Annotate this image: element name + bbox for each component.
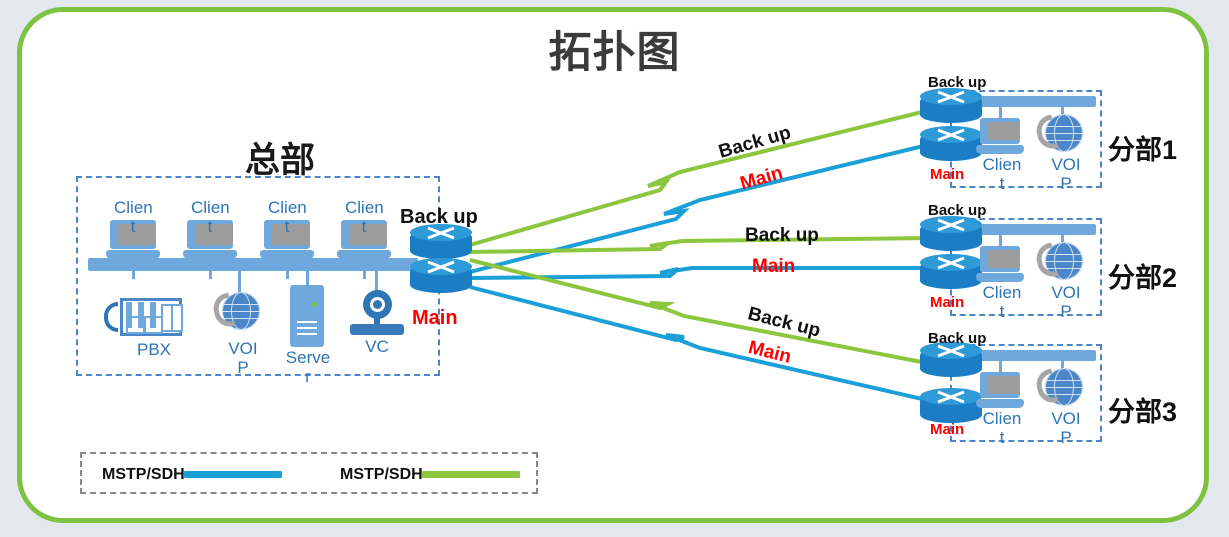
branch-2-client-label2: t: [980, 302, 1024, 321]
router-arrows-icon: [936, 128, 966, 142]
hq-voip-label: VOI: [222, 339, 264, 358]
branch-2-client-label: Clien: [980, 283, 1024, 302]
branch-1-voip-label: VOI: [1045, 155, 1087, 174]
laptop-icon: [976, 118, 1024, 154]
link-backup-branch1: [470, 110, 930, 245]
branch-2-voip-label2: P: [1045, 302, 1087, 321]
link-backup-branch2: [470, 238, 932, 252]
server-icon: [290, 285, 324, 347]
branch-2-voip-label: VOI: [1045, 283, 1087, 302]
pbx-icon: [104, 296, 182, 338]
hq-client-3-label: Clien: [268, 198, 306, 217]
drop-line: [238, 265, 241, 294]
drop-line: [209, 259, 212, 279]
hq-client-1-label: Clien: [114, 198, 152, 217]
hq-client-1-label2: t: [114, 217, 152, 236]
hq-server-label: Serve: [284, 348, 332, 367]
hq-client-4-label: Clien: [345, 198, 383, 217]
branch-3-main-label: Main: [930, 421, 964, 438]
branch-2-name: 分部2: [1108, 256, 1177, 295]
legend-item-2-swatch: [422, 471, 520, 478]
branch-2-router-backup[interactable]: [920, 216, 982, 256]
drop-line: [363, 259, 366, 279]
hq-vc-label: VC: [350, 337, 404, 356]
router-arrows-icon: [426, 260, 456, 274]
branch-3-client-label: Clien: [980, 409, 1024, 428]
branch-1-router-backup[interactable]: [920, 88, 982, 128]
branch-1-client-label2: t: [980, 174, 1024, 193]
hq-client-3-label2: t: [268, 217, 306, 236]
hq-router-main-label: Main: [412, 307, 458, 330]
legend-item-1-swatch: [184, 471, 282, 478]
hq-voip-label2: P: [222, 358, 264, 377]
hq-router-main[interactable]: [410, 258, 472, 298]
hq-server-label2: r: [284, 367, 332, 386]
link-label-main-branch2: Main: [752, 256, 795, 278]
legend-box: MSTP/SDH MSTP/SDH: [80, 452, 538, 494]
globe-icon: [214, 292, 260, 338]
branch-3-voip-label: VOI: [1045, 409, 1087, 428]
branch-3-router-backup[interactable]: [920, 342, 982, 382]
link-main-branch3: [470, 287, 944, 404]
branch-3-name: 分部3: [1108, 390, 1177, 429]
branch-2-router-main[interactable]: [920, 254, 982, 294]
drop-line: [306, 265, 309, 287]
drop-line: [286, 259, 289, 279]
branch-1-client-label: Clien: [980, 155, 1024, 174]
drop-line: [132, 259, 135, 279]
globe-icon: [1037, 114, 1083, 160]
hq-client-4-label2: t: [345, 217, 383, 236]
globe-icon: [1037, 368, 1083, 414]
drop-line: [375, 265, 378, 292]
laptop-icon: [976, 372, 1024, 408]
camera-icon: [350, 290, 404, 338]
hq-client-2-label2: t: [191, 217, 229, 236]
branch-1-router-main[interactable]: [920, 126, 982, 166]
branch-2-backup-label: Back up: [928, 202, 986, 219]
hq-client-2-label: Clien: [191, 198, 229, 217]
laptop-icon: [976, 246, 1024, 282]
router-arrows-icon: [936, 90, 966, 104]
branch-1-backup-label: Back up: [928, 74, 986, 91]
hq-pbx-label: PBX: [126, 340, 182, 359]
page-title: 拓扑图: [0, 18, 1229, 80]
router-arrows-icon: [936, 218, 966, 232]
branch-1-name: 分部1: [1108, 128, 1177, 167]
branch-3-client-label2: t: [980, 428, 1024, 447]
legend-item-1-label: MSTP/SDH: [102, 466, 185, 484]
branch-3-voip-label2: P: [1045, 428, 1087, 447]
router-arrows-icon: [936, 390, 966, 404]
branch-1-main-label: Main: [930, 166, 964, 183]
topology-diagram-canvas: 拓扑图 总部 Clien t Clien t Clien t Clien t: [0, 0, 1229, 537]
link-label-backup-branch2: Back up: [745, 225, 819, 247]
branch-3-backup-label: Back up: [928, 330, 986, 347]
legend-item-2-label: MSTP/SDH: [340, 466, 423, 484]
branch-2-main-label: Main: [930, 294, 964, 311]
globe-icon: [1037, 242, 1083, 288]
branch-1-voip-label2: P: [1045, 174, 1087, 193]
router-arrows-icon: [936, 256, 966, 270]
hq-router-backup-label: Back up: [400, 206, 478, 229]
